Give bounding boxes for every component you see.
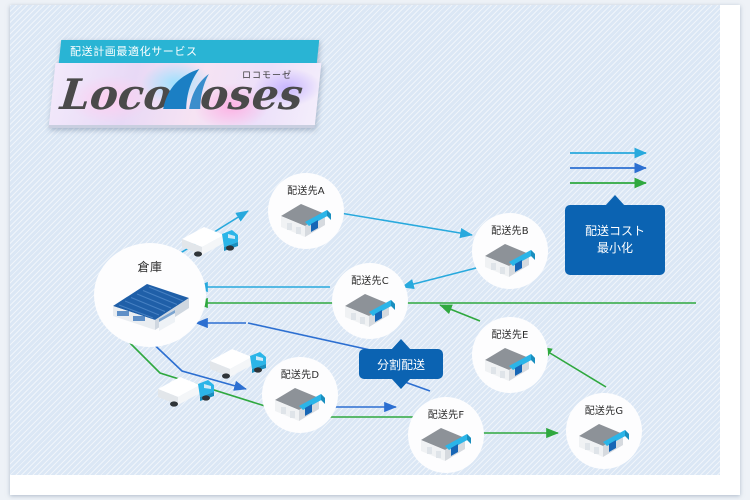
node-destination-d[interactable]: 配送先D [262, 357, 338, 433]
node-destination-f[interactable]: 配送先F [408, 397, 484, 473]
store-building-icon [573, 414, 635, 462]
callout-cost-line1: 配送コスト [585, 223, 645, 240]
truck-route-green [154, 367, 218, 411]
cost-reduction-arrows [568, 147, 678, 195]
diagram-canvas: 配送計画最適化サービス Loco oses ロコモーゼ [10, 5, 720, 475]
store-building-icon [339, 284, 401, 332]
warehouse-icon [103, 272, 197, 336]
node-destination-a[interactable]: 配送先A [268, 173, 344, 249]
node-destination-c[interactable]: 配送先C [332, 263, 408, 339]
route-b-to-c [402, 267, 480, 287]
node-destination-g[interactable]: 配送先G [566, 393, 642, 469]
callout-pointer-down-icon [391, 378, 411, 389]
store-building-icon [269, 378, 331, 426]
node-warehouse[interactable]: 倉庫 [94, 243, 206, 347]
store-building-icon [275, 194, 337, 242]
store-building-icon [479, 234, 541, 282]
node-destination-e[interactable]: 配送先E [472, 317, 548, 393]
logo-tagline: 配送計画最適化サービス [70, 42, 320, 62]
callout-box: 分割配送 [359, 349, 443, 379]
callout-cost-line2: 最小化 [585, 240, 645, 257]
node-destination-b[interactable]: 配送先B [472, 213, 548, 289]
callout-split-label: 分割配送 [377, 356, 425, 373]
store-building-icon [479, 338, 541, 386]
logo-word-left: Loco [57, 69, 174, 119]
route-a-to-b [328, 211, 472, 235]
logo-ruby-text: ロコモーゼ [242, 68, 292, 81]
store-building-icon [415, 418, 477, 466]
callout-box: 配送コスト 最小化 [565, 205, 665, 275]
screenshot-root: 配送計画最適化サービス Loco oses ロコモーゼ [0, 0, 750, 500]
route-g-to-e [540, 347, 606, 387]
logo-banner: 配送計画最適化サービス Loco oses ロコモーゼ [46, 40, 321, 140]
